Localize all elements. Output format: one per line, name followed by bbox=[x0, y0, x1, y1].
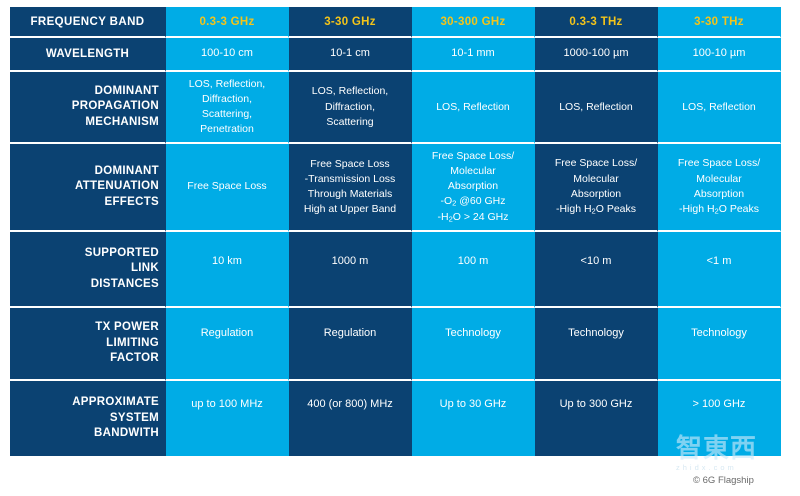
cell-propagation-band1: LOS, Reflection, Diffraction, Scattering… bbox=[166, 72, 289, 143]
header-band-4: 0.3-3 THz bbox=[535, 7, 658, 38]
frequency-band-comparison-table: FREQUENCY BAND 0.3-3 GHz 3-30 GHz 30-300… bbox=[10, 7, 781, 456]
row-label-tx-power-limiting-factor: TX POWER LIMITING FACTOR bbox=[10, 308, 166, 382]
header-band-5: 3-30 THz bbox=[658, 7, 781, 38]
row-label-wavelength: WAVELENGTH bbox=[10, 38, 166, 72]
table-row: DOMINANT PROPAGATION MECHANISM LOS, Refl… bbox=[10, 72, 781, 143]
cell-bandwidth-band3: Up to 30 GHz bbox=[412, 381, 535, 456]
cell-wavelength-band4: 1000-100 µm bbox=[535, 38, 658, 72]
row-label-line: ATTENUATION bbox=[16, 179, 159, 195]
cell-bandwidth-band4: Up to 300 GHz bbox=[535, 381, 658, 456]
cell-distance-band1: 10 km bbox=[166, 232, 289, 308]
cell-distance-band3: 100 m bbox=[412, 232, 535, 308]
cell-line: LOS, Reflection bbox=[541, 100, 651, 115]
cell-bandwidth-band1: up to 100 MHz bbox=[166, 381, 289, 456]
copyright-credit: © 6G Flagship bbox=[693, 475, 754, 486]
cell-line: LOS, Reflection bbox=[418, 100, 528, 115]
cell-txpower-band3: Technology bbox=[412, 308, 535, 382]
cell-bandwidth-band5: > 100 GHz bbox=[658, 381, 781, 456]
cell-line: Absorption bbox=[541, 187, 651, 202]
table-row: WAVELENGTH 100-10 cm 10-1 cm 10-1 mm 100… bbox=[10, 38, 781, 72]
cell-attenuation-band3: Free Space Loss/ Molecular Absorption -O… bbox=[412, 144, 535, 233]
row-label-line: DISTANCES bbox=[16, 277, 159, 293]
o2-prefix: -O bbox=[440, 195, 452, 207]
header-band-3: 30-300 GHz bbox=[412, 7, 535, 38]
cell-line: Free Space Loss bbox=[172, 179, 282, 194]
h2o-peaks-prefix: -High H bbox=[679, 203, 715, 215]
cell-line: Free Space Loss/ bbox=[418, 149, 528, 164]
row-label-line: MECHANISM bbox=[16, 115, 159, 131]
cell-line: High at Upper Band bbox=[295, 202, 405, 217]
cell-line: -Transmission Loss bbox=[295, 172, 405, 187]
cell-line: Molecular bbox=[664, 172, 774, 187]
cell-wavelength-band5: 100-10 µm bbox=[658, 38, 781, 72]
cell-txpower-band2: Regulation bbox=[289, 308, 412, 382]
cell-line-h2o: -H2O > 24 GHz bbox=[418, 210, 528, 226]
row-label-line: PROPAGATION bbox=[16, 99, 159, 115]
h2o-suffix: O > 24 GHz bbox=[453, 211, 509, 223]
cell-attenuation-band4: Free Space Loss/ Molecular Absorption -H… bbox=[535, 144, 658, 233]
cell-line: Molecular bbox=[418, 164, 528, 179]
row-label-line: TX POWER bbox=[16, 320, 159, 336]
row-label-line: BANDWITH bbox=[16, 426, 159, 442]
cell-line: LOS, Reflection bbox=[664, 100, 774, 115]
cell-propagation-band3: LOS, Reflection bbox=[412, 72, 535, 143]
h2o-peaks-prefix: -High H bbox=[556, 203, 592, 215]
header-frequency-band-label: FREQUENCY BAND bbox=[10, 7, 166, 38]
cell-line: LOS, Reflection, bbox=[295, 84, 405, 99]
cell-wavelength-band1: 100-10 cm bbox=[166, 38, 289, 72]
h2o-peaks-suffix: O Peaks bbox=[719, 203, 759, 215]
table-row: APPROXIMATE SYSTEM BANDWITH up to 100 MH… bbox=[10, 381, 781, 456]
row-label-dominant-propagation-mechanism: DOMINANT PROPAGATION MECHANISM bbox=[10, 72, 166, 143]
cell-line: Scattering, bbox=[172, 107, 282, 122]
row-label-line: DOMINANT bbox=[16, 84, 159, 100]
cell-bandwidth-band2: 400 (or 800) MHz bbox=[289, 381, 412, 456]
table-header-row: FREQUENCY BAND 0.3-3 GHz 3-30 GHz 30-300… bbox=[10, 7, 781, 38]
h2o-peaks-suffix: O Peaks bbox=[596, 203, 636, 215]
spec-table-container: FREQUENCY BAND 0.3-3 GHz 3-30 GHz 30-300… bbox=[10, 7, 781, 456]
cell-line: Diffraction, bbox=[295, 100, 405, 115]
table-row: DOMINANT ATTENUATION EFFECTS Free Space … bbox=[10, 144, 781, 233]
cell-propagation-band5: LOS, Reflection bbox=[658, 72, 781, 143]
cell-attenuation-band1: Free Space Loss bbox=[166, 144, 289, 233]
cell-line: Scattering bbox=[295, 115, 405, 130]
cell-line-o2: -O2 @60 GHz bbox=[418, 194, 528, 210]
cell-line: LOS, Reflection, bbox=[172, 77, 282, 92]
cell-distance-band4: <10 m bbox=[535, 232, 658, 308]
row-label-line: LINK bbox=[16, 261, 159, 277]
cell-line: Free Space Loss/ bbox=[664, 156, 774, 171]
cell-attenuation-band5: Free Space Loss/ Molecular Absorption -H… bbox=[658, 144, 781, 233]
header-band-2: 3-30 GHz bbox=[289, 7, 412, 38]
cell-txpower-band4: Technology bbox=[535, 308, 658, 382]
row-label-line: DOMINANT bbox=[16, 164, 159, 180]
header-band-1: 0.3-3 GHz bbox=[166, 7, 289, 38]
h2o-prefix: -H bbox=[437, 211, 448, 223]
cell-line-h2o-peaks: -High H2O Peaks bbox=[541, 202, 651, 218]
o2-suffix: @60 GHz bbox=[456, 195, 505, 207]
cell-distance-band2: 1000 m bbox=[289, 232, 412, 308]
cell-line: Free Space Loss bbox=[295, 157, 405, 172]
cell-txpower-band1: Regulation bbox=[166, 308, 289, 382]
cell-distance-band5: <1 m bbox=[658, 232, 781, 308]
row-label-approximate-system-bandwith: APPROXIMATE SYSTEM BANDWITH bbox=[10, 381, 166, 456]
cell-line: Diffraction, bbox=[172, 92, 282, 107]
cell-line: Absorption bbox=[418, 179, 528, 194]
row-label-line: LIMITING bbox=[16, 336, 159, 352]
cell-txpower-band5: Technology bbox=[658, 308, 781, 382]
cell-line: Free Space Loss/ bbox=[541, 156, 651, 171]
cell-line: Through Materials bbox=[295, 187, 405, 202]
row-label-line: FACTOR bbox=[16, 351, 159, 367]
cell-line: Molecular bbox=[541, 172, 651, 187]
table-row: SUPPORTED LINK DISTANCES 10 km 1000 m 10… bbox=[10, 232, 781, 308]
watermark-url: zhidx.com bbox=[676, 463, 788, 472]
row-label-line: SUPPORTED bbox=[16, 246, 159, 262]
cell-propagation-band4: LOS, Reflection bbox=[535, 72, 658, 143]
row-label-line: EFFECTS bbox=[16, 195, 159, 211]
row-label-line: APPROXIMATE bbox=[16, 395, 159, 411]
cell-line: Absorption bbox=[664, 187, 774, 202]
row-label-dominant-attenuation-effects: DOMINANT ATTENUATION EFFECTS bbox=[10, 144, 166, 233]
cell-propagation-band2: LOS, Reflection, Diffraction, Scattering bbox=[289, 72, 412, 143]
cell-wavelength-band2: 10-1 cm bbox=[289, 38, 412, 72]
row-label-supported-link-distances: SUPPORTED LINK DISTANCES bbox=[10, 232, 166, 308]
row-label-line: SYSTEM bbox=[16, 411, 159, 427]
cell-wavelength-band3: 10-1 mm bbox=[412, 38, 535, 72]
cell-line: Penetration bbox=[172, 122, 282, 137]
cell-attenuation-band2: Free Space Loss -Transmission Loss Throu… bbox=[289, 144, 412, 233]
table-row: TX POWER LIMITING FACTOR Regulation Regu… bbox=[10, 308, 781, 382]
cell-line-h2o-peaks: -High H2O Peaks bbox=[664, 202, 774, 218]
